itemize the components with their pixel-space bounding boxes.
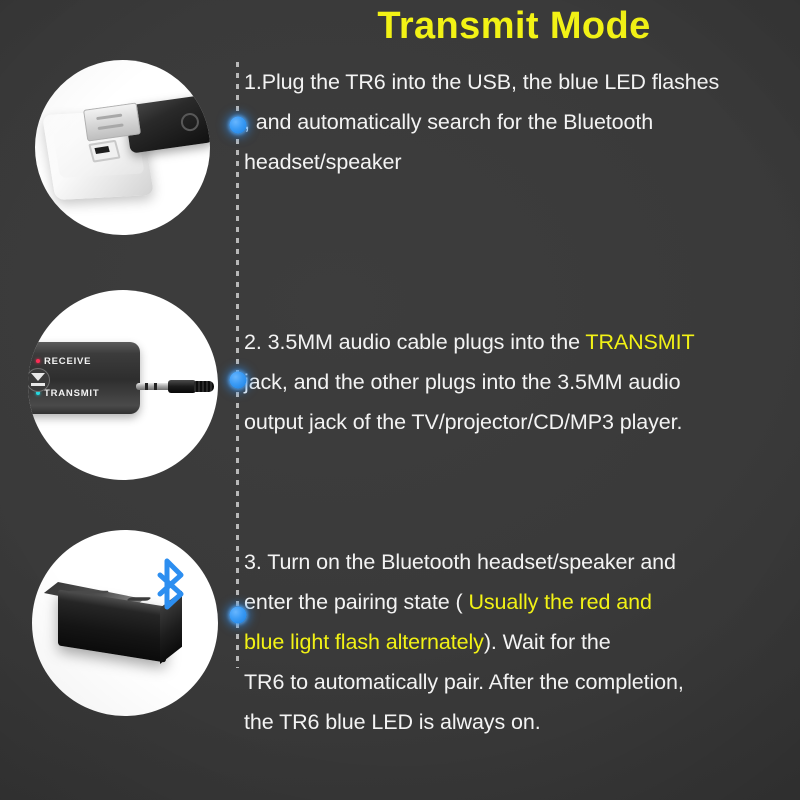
receive-label-text: RECEIVE bbox=[44, 356, 91, 367]
step-1-line-2: , and automatically search for the Bluet… bbox=[244, 102, 800, 142]
step-3-line-1: 3. Turn on the Bluetooth headset/speaker… bbox=[244, 542, 800, 582]
step-3-highlight-part-1: Usually the red and bbox=[468, 590, 651, 614]
step-3-line-5: the TR6 blue LED is always on. bbox=[244, 702, 800, 742]
device-label-transmit: TRANSMIT bbox=[44, 388, 99, 399]
step-1-line-3: headset/speaker bbox=[244, 142, 800, 182]
step-2-line-3: output jack of the TV/projector/CD/MP3 p… bbox=[244, 402, 800, 442]
step-3-line-2: enter the pairing state ( Usually the re… bbox=[244, 582, 800, 622]
step-3-line-4: TR6 to automatically pair. After the com… bbox=[244, 662, 800, 702]
bluetooth-icon bbox=[150, 558, 194, 610]
step-2-line-2: jack, and the other plugs into the 3.5MM… bbox=[244, 362, 800, 402]
aux-plug-grip bbox=[194, 381, 214, 392]
page-title: Transmit Mode bbox=[228, 2, 800, 50]
transmit-label-text: TRANSMIT bbox=[44, 388, 99, 399]
receive-led-icon bbox=[36, 359, 40, 363]
step-2-text: 2. 3.5MM audio cable plugs into the TRAN… bbox=[244, 322, 800, 442]
step-2-highlight-transmit: TRANSMIT bbox=[585, 330, 694, 354]
speaker-grill bbox=[67, 591, 110, 593]
transmit-mode-instruction-graphic: Transmit Mode RECEIVE TRANSMIT bbox=[0, 0, 800, 800]
photo-device-mode-switch: RECEIVE TRANSMIT bbox=[28, 290, 218, 480]
step-3-highlight-part-2: blue light flash alternately bbox=[244, 630, 484, 654]
tr6-device-body: RECEIVE TRANSMIT bbox=[28, 342, 140, 414]
step-3-line-3-post: ). Wait for the bbox=[484, 630, 611, 654]
timeline-dashed-line bbox=[236, 62, 239, 668]
photo-usb-charger-and-dongle bbox=[35, 60, 210, 235]
step-2-marker-dot bbox=[230, 372, 247, 389]
step-1-line-1: 1.Plug the TR6 into the USB, the blue LE… bbox=[244, 62, 800, 102]
step-2-line-1-pre: 2. 3.5MM audio cable plugs into the bbox=[244, 330, 585, 354]
step-3-line-2-pre: enter the pairing state ( bbox=[244, 590, 468, 614]
step-3-text: 3. Turn on the Bluetooth headset/speaker… bbox=[244, 542, 800, 742]
photo-bluetooth-speaker bbox=[32, 530, 218, 716]
speaker-control-buttons bbox=[126, 597, 152, 601]
step-2-line-1: 2. 3.5MM audio cable plugs into the TRAN… bbox=[244, 322, 800, 362]
step-1-marker-dot bbox=[230, 117, 247, 134]
device-label-receive: RECEIVE bbox=[44, 356, 91, 367]
step-1-text: 1.Plug the TR6 into the USB, the blue LE… bbox=[244, 62, 800, 182]
step-3-line-3: blue light flash alternately). Wait for … bbox=[244, 622, 800, 662]
aux-plug-tip bbox=[136, 383, 170, 390]
step-3-marker-dot bbox=[230, 607, 247, 624]
aux-35mm-plug bbox=[136, 380, 212, 393]
aux-plug-barrel bbox=[168, 380, 196, 393]
